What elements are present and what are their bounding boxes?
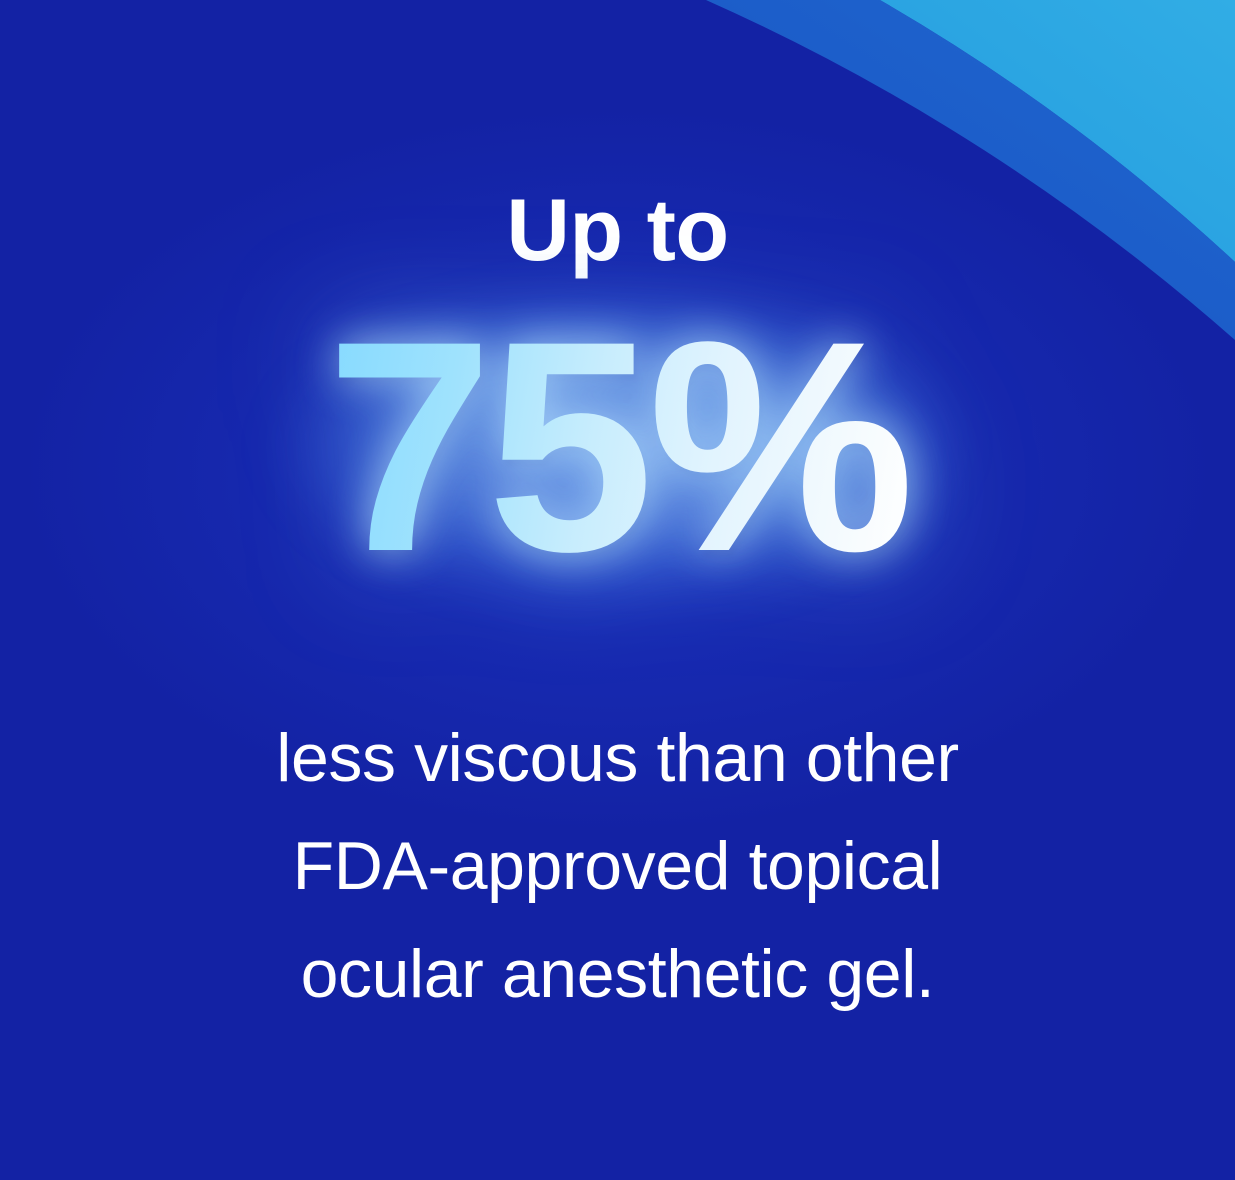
hero-stat-value: 75% <box>326 329 908 563</box>
body-copy-line-1: less viscous than other <box>276 704 959 812</box>
eyebrow-label: Up to <box>506 186 728 274</box>
stat-card: Up to 75% less viscous than other FDA-ap… <box>0 0 1235 1180</box>
hero-number-wrap: 75% <box>326 296 908 596</box>
body-copy: less viscous than other FDA-approved top… <box>276 704 959 1028</box>
card-content: Up to 75% less viscous than other FDA-ap… <box>0 0 1235 1180</box>
body-copy-line-3: ocular anesthetic gel. <box>276 920 959 1028</box>
body-copy-line-2: FDA-approved topical <box>276 812 959 920</box>
